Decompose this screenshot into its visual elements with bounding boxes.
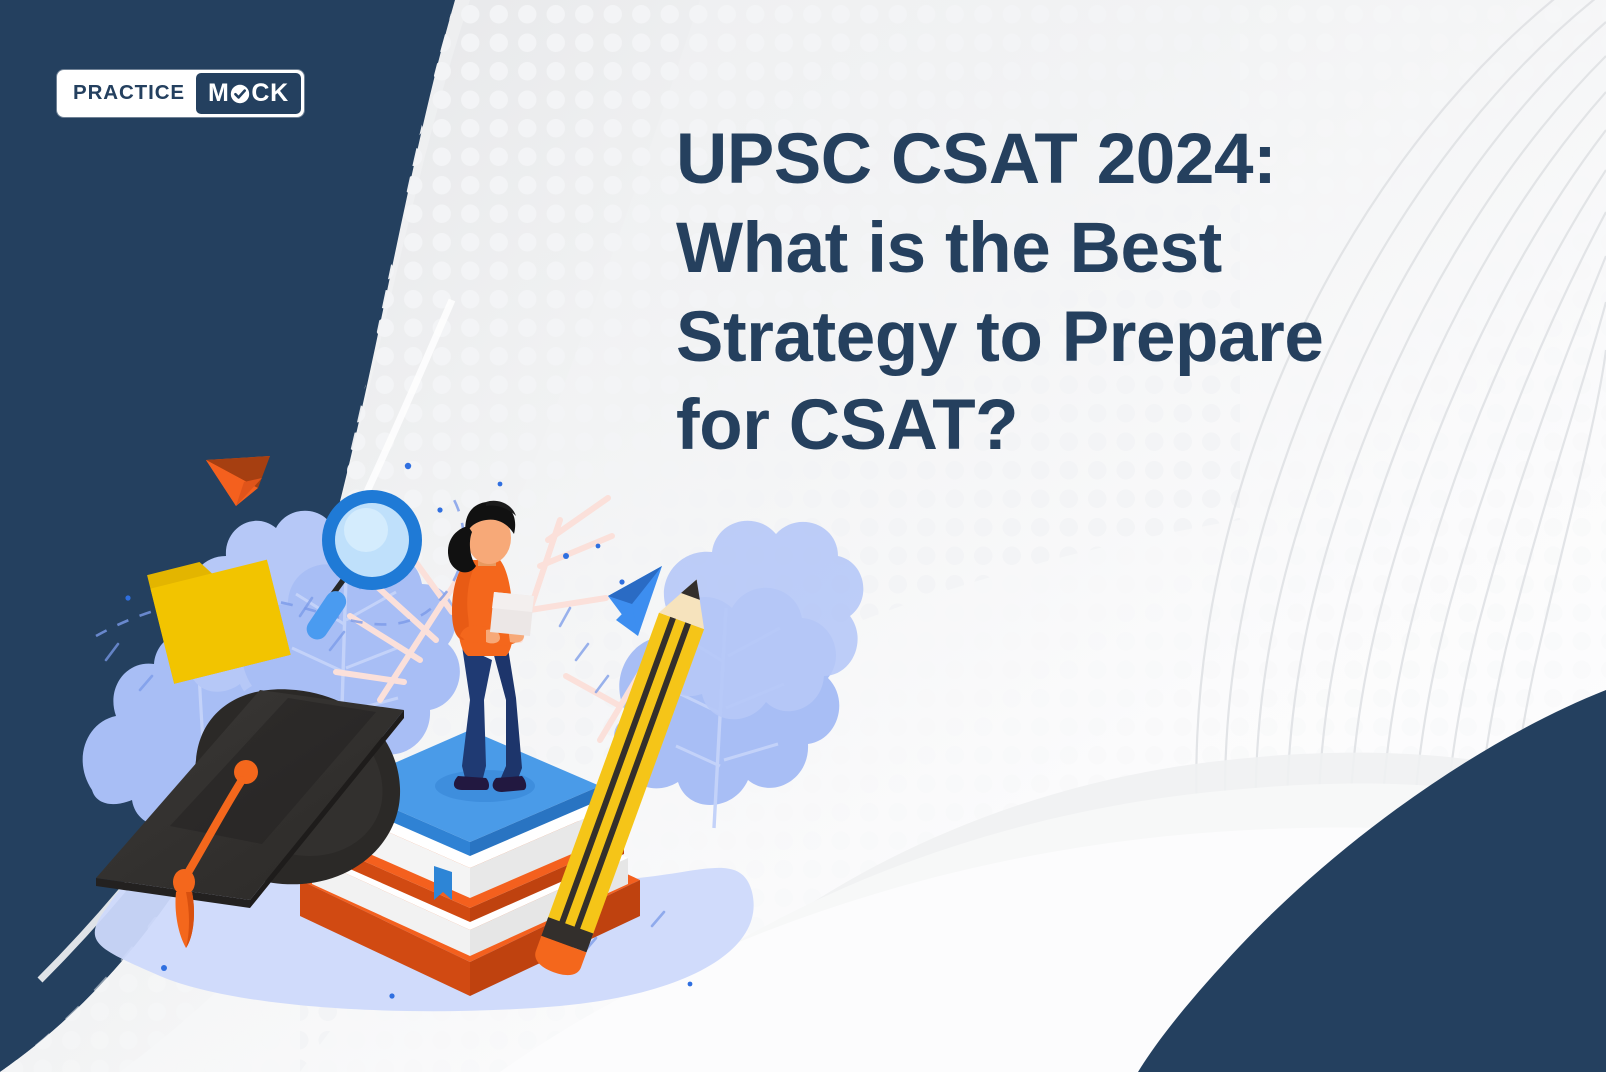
logo-text-mock-part2: CK bbox=[251, 81, 288, 106]
logo-text-mock-part1: M bbox=[208, 81, 229, 106]
banner-image: PRACTICE M CK UPSC CSAT 2024: What is th… bbox=[0, 0, 1606, 1072]
brand-logo[interactable]: PRACTICE M CK bbox=[57, 70, 304, 117]
check-circle-icon bbox=[230, 84, 250, 104]
page-title: UPSC CSAT 2024: What is the Best Strateg… bbox=[676, 116, 1466, 471]
logo-text-practice: PRACTICE bbox=[60, 73, 196, 114]
logo-badge-mock: M CK bbox=[196, 73, 301, 114]
